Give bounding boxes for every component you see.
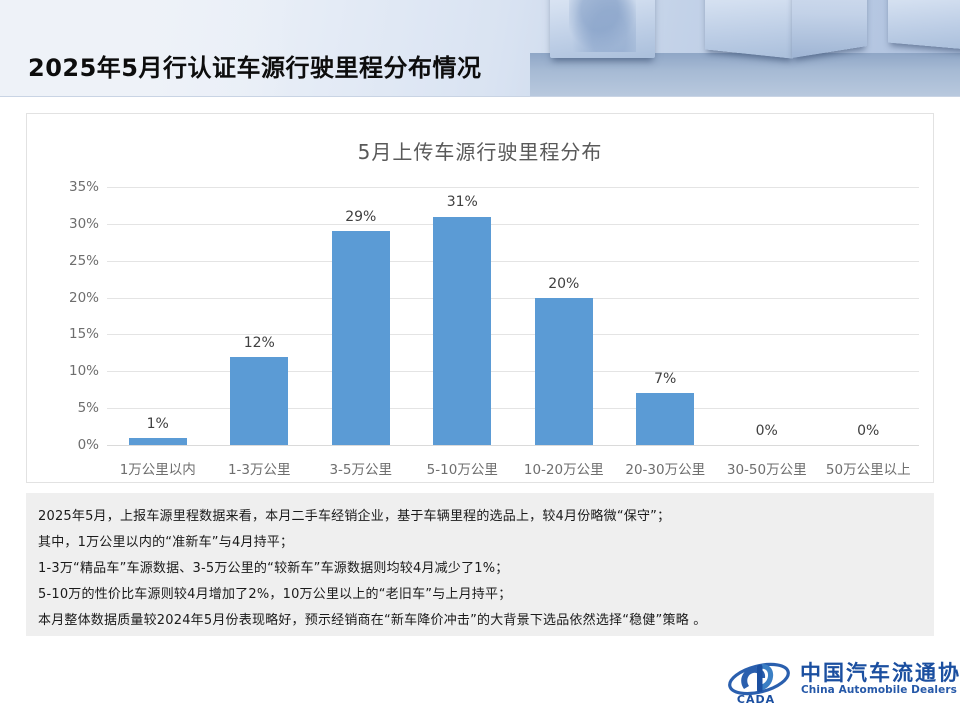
chart-bar[interactable] bbox=[636, 393, 694, 445]
logo-chinese-name: 中国汽车流通协会 bbox=[800, 657, 960, 687]
header-cube-2a bbox=[705, 0, 793, 59]
bar-value-label: 1% bbox=[147, 416, 169, 432]
y-axis-tick-label: 20% bbox=[39, 290, 99, 306]
x-axis-tick-label: 1万公里以内 bbox=[120, 458, 196, 478]
page-title: 2025年5月行认证车源行驶里程分布情况 bbox=[28, 48, 482, 83]
chart-column[interactable]: 0%30-50万公里 bbox=[716, 114, 818, 484]
summary-text-line: 其中，1万公里以内的“准新车”与4月持平； bbox=[38, 531, 293, 550]
chart-column[interactable]: 31%5-10万公里 bbox=[412, 114, 514, 484]
x-axis-tick-label: 5-10万公里 bbox=[427, 458, 498, 478]
summary-text-line: 5-10万的性价比车源则较4月增加了2%，10万公里以上的“老旧车”与上月持平； bbox=[38, 583, 511, 602]
header-floor-gradient bbox=[530, 53, 960, 97]
bar-value-label: 29% bbox=[345, 209, 376, 225]
header-cube-1 bbox=[550, 0, 655, 58]
page-header: 2025年5月行认证车源行驶里程分布情况 bbox=[0, 0, 960, 97]
summary-text-line: 1-3万“精品车”车源数据、3-5万公里的“较新车”车源数据则均较4月减少了1%… bbox=[38, 557, 509, 576]
x-axis-tick-label: 1-3万公里 bbox=[228, 458, 291, 478]
summary-text-line: 2025年5月，上报车源里程数据来看，本月二手车经销企业，基于车辆里程的选品上，… bbox=[38, 505, 670, 524]
y-axis-tick-label: 10% bbox=[39, 363, 99, 379]
chart-bar[interactable] bbox=[230, 357, 288, 445]
x-axis-tick-label: 30-50万公里 bbox=[727, 458, 807, 478]
chart-column[interactable]: 29%3-5万公里 bbox=[310, 114, 412, 484]
y-axis-tick-label: 0% bbox=[39, 437, 99, 453]
chart-column[interactable]: 7%20-30万公里 bbox=[615, 114, 717, 484]
chart-bar[interactable] bbox=[332, 231, 390, 445]
chart-bars-group: 1%1万公里以内12%1-3万公里29%3-5万公里31%5-10万公里20%1… bbox=[107, 114, 919, 484]
bar-value-label: 7% bbox=[654, 371, 676, 387]
x-axis-tick-label: 10-20万公里 bbox=[524, 458, 604, 478]
bar-value-label: 0% bbox=[756, 423, 778, 439]
y-axis-tick-label: 15% bbox=[39, 326, 99, 342]
chart-panel: 5月上传车源行驶里程分布 0%5%10%15%20%25%30%35% 1%1万… bbox=[26, 113, 934, 483]
chart-column[interactable]: 1%1万公里以内 bbox=[107, 114, 209, 484]
bar-value-label: 0% bbox=[857, 423, 879, 439]
svg-text:CADA: CADA bbox=[737, 693, 775, 705]
logo-english-name: China Automobile Dealers Association bbox=[801, 684, 960, 696]
chart-bar[interactable] bbox=[433, 217, 491, 446]
y-axis-tick-label: 25% bbox=[39, 253, 99, 269]
chart-bar[interactable] bbox=[129, 438, 187, 445]
y-axis-tick-label: 30% bbox=[39, 216, 99, 232]
chart-plot-area: 0%5%10%15%20%25%30%35% 1%1万公里以内12%1-3万公里… bbox=[27, 114, 935, 484]
bar-value-label: 31% bbox=[447, 194, 478, 210]
header-cube-2b bbox=[792, 0, 867, 58]
x-axis-tick-label: 20-30万公里 bbox=[625, 458, 705, 478]
header-divider bbox=[0, 96, 960, 97]
bar-value-label: 12% bbox=[244, 335, 275, 351]
x-axis-tick-label: 3-5万公里 bbox=[329, 458, 392, 478]
x-axis-tick-label: 50万公里以上 bbox=[826, 458, 911, 478]
bar-value-label: 20% bbox=[548, 276, 579, 292]
cada-logo: CADA 中国汽车流通协会 China Automobile Dealers A… bbox=[726, 655, 938, 707]
summary-text-panel: 2025年5月，上报车源里程数据来看，本月二手车经销企业，基于车辆里程的选品上，… bbox=[26, 493, 934, 636]
y-axis-tick-label: 5% bbox=[39, 400, 99, 416]
header-decoration-image bbox=[530, 0, 960, 97]
chart-column[interactable]: 0%50万公里以上 bbox=[818, 114, 920, 484]
cada-logo-mark-icon: CADA bbox=[726, 659, 796, 705]
chart-column[interactable]: 12%1-3万公里 bbox=[209, 114, 311, 484]
y-axis-tick-label: 35% bbox=[39, 179, 99, 195]
chart-bar[interactable] bbox=[535, 298, 593, 445]
header-cube-3 bbox=[888, 0, 960, 49]
summary-text-line: 本月整体数据质量较2024年5月份表现略好，预示经销商在“新车降价冲击”的大背景… bbox=[38, 609, 706, 628]
chart-column[interactable]: 20%10-20万公里 bbox=[513, 114, 615, 484]
